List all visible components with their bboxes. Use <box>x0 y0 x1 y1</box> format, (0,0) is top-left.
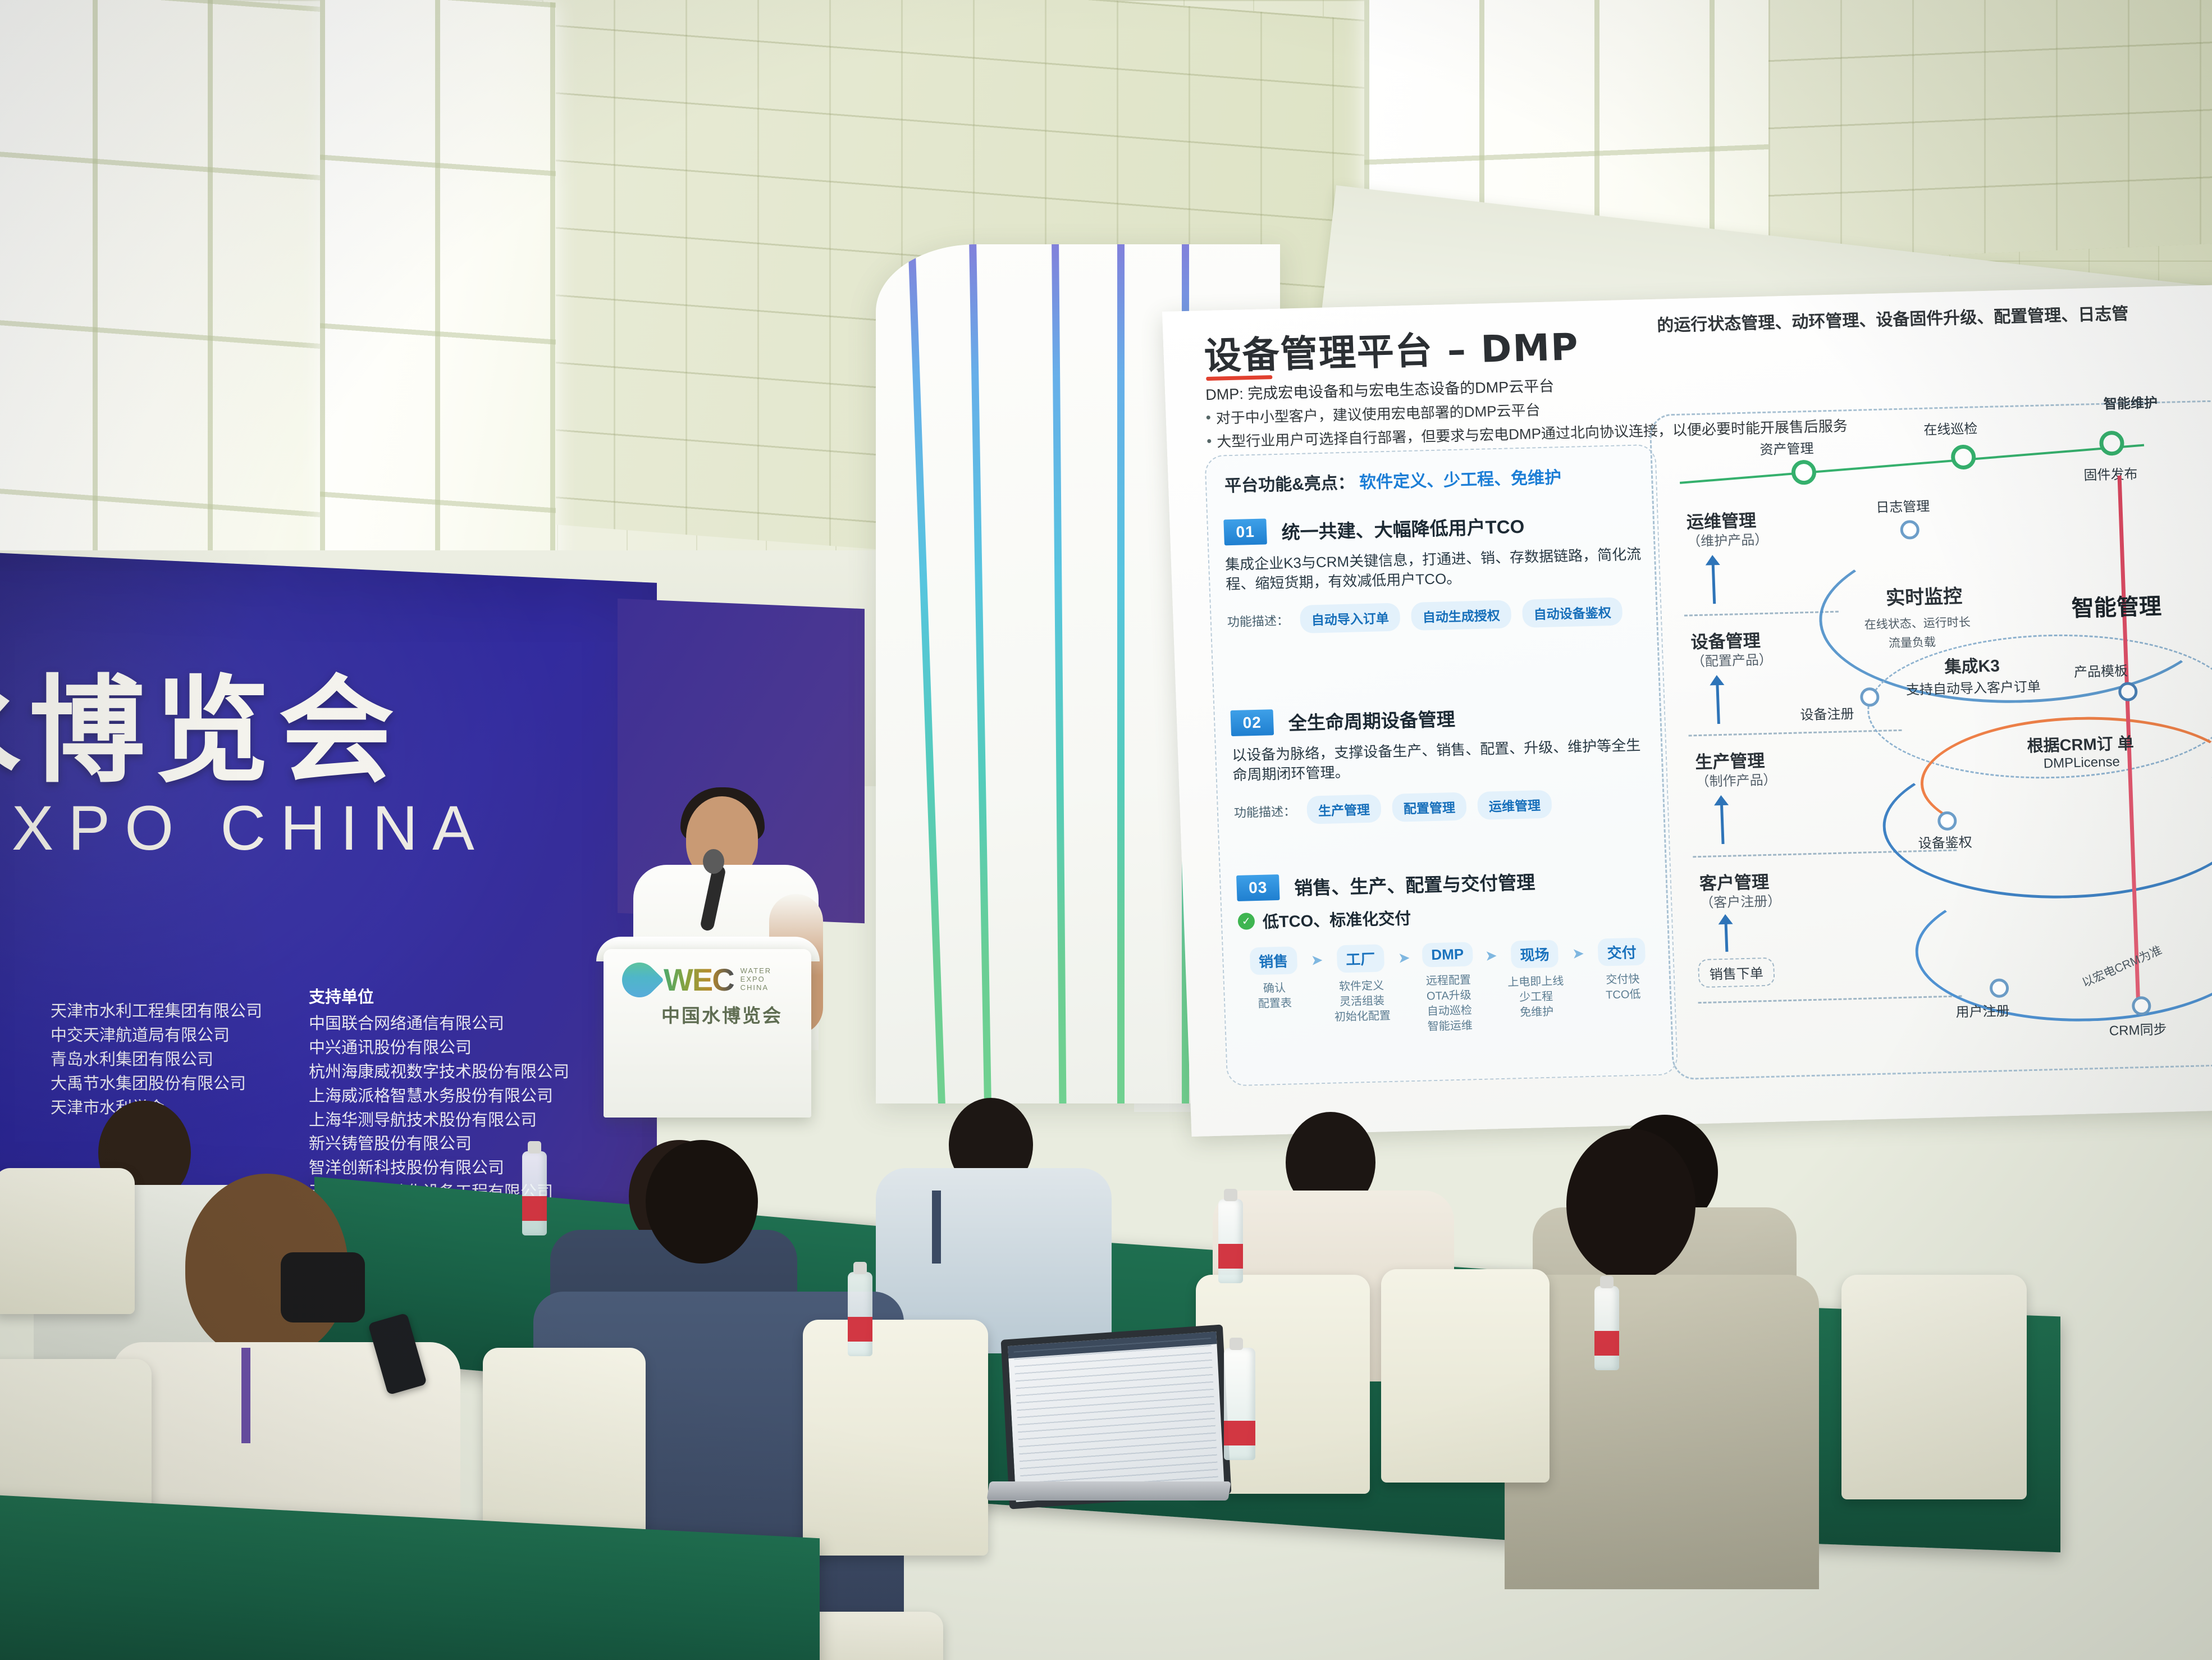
podium-logo-chinese: 中国水博览会 <box>661 1001 783 1028</box>
chair <box>803 1320 988 1556</box>
attendee-body <box>1505 1275 1819 1589</box>
lifecycle-diagram: 资产管理 在线巡检 固件发布 智能维护 运维管理 （维护产品） 设备管理 （配置… <box>1671 405 2212 1093</box>
chair <box>1381 1269 1550 1483</box>
feature-block-tagrow: 功能描述： 生产管理 配置管理 运维管理 <box>1233 787 1651 826</box>
supporter-item: 上海威派格智慧水务股份有限公司 <box>309 1084 569 1109</box>
feature-tag: 生产管理 <box>1306 794 1382 824</box>
organizer-item: 天津市水利工程集团有限公司 <box>51 1000 262 1024</box>
flow-arrow-icon: ➤ <box>1484 941 1497 965</box>
slide-title: 设备管理平台 – DMP <box>1203 317 1580 380</box>
flow-arrow-icon: ➤ <box>1397 943 1410 967</box>
water-drop-icon <box>615 955 664 1005</box>
feature-tag: 自动生成授权 <box>1411 600 1512 630</box>
slide-bullet-text: 对于中小型客户，建议使用宏电部署的DMP云平台 <box>1215 402 1541 427</box>
conference-photo-scene: 水博览会 EXPO CHINA 天津市水利工程集团有限公司 中交天津航道局有限公… <box>0 0 2212 1660</box>
stage-sub-production: （制作产品） <box>1695 769 1777 791</box>
wave-line <box>907 244 947 1103</box>
flow-step-chip: 现场 <box>1511 940 1559 968</box>
flow-step-chip: 销售 <box>1249 946 1297 975</box>
tag-row-label: 功能描述： <box>1233 801 1296 821</box>
feature-block-02: 02 全生命周期设备管理 以设备为脉络，支撑设备生产、销售、配置、升级、维护等全… <box>1230 699 1651 826</box>
expo-banner-backdrop: 水博览会 EXPO CHINA 天津市水利工程集团有限公司 中交天津航道局有限公… <box>0 551 657 1240</box>
attendee-head <box>646 1140 758 1264</box>
smart-management-title: 智能管理 <box>2071 588 2162 623</box>
monitor-sub-1: 在线状态、运行时长 <box>1864 613 1971 633</box>
feature-block-03: 03 销售、生产、配置与交付管理 ✓ 低TCO、标准化交付 销售 确认 配置表 … <box>1236 864 1658 1039</box>
flow-step: 工厂 软件定义 灵活组装 初始化配置 <box>1326 944 1397 1025</box>
supporter-heading: 支持单位 <box>309 986 569 1010</box>
feature-block-desc: 以设备为脉络，支撑设备生产、销售、配置、升级、维护等全生命周期闭环管理。 <box>1232 735 1649 785</box>
chip-sales-order-label: 销售下单 <box>1709 966 1763 982</box>
monitor-sub-2: 流量负载 <box>1888 633 1936 651</box>
feature-tag: 配置管理 <box>1392 792 1467 822</box>
bullet-dot-icon <box>1206 416 1210 419</box>
podium-logo-sub-line: EXPO <box>741 975 772 984</box>
water-bottle <box>1594 1286 1619 1370</box>
label-smart-maintenance: 智能维护 <box>2103 391 2158 412</box>
label-product-template: 产品模板 <box>2073 660 2128 681</box>
feature-tag: 自动设备鉴权 <box>1522 597 1623 627</box>
flow-step-sub: 远程配置 OTA升级 自动巡检 智能运维 <box>1414 973 1484 1035</box>
laptop-content-rows <box>1014 1338 1219 1496</box>
presentation-slide: 设备管理平台 – DMP 的运行状态管理、动环管理、设备固件升级、配置管理、日志… <box>1162 285 2212 1137</box>
window-bank-left-inner <box>320 0 556 609</box>
flow-step: DMP 远程配置 OTA升级 自动巡检 智能运维 <box>1413 942 1484 1035</box>
flow-arrow-icon: ➤ <box>1571 939 1584 963</box>
flow-arrow-icon: ➤ <box>1310 946 1323 969</box>
chip-sales-order: 销售下单 <box>1698 957 1775 988</box>
tag-row-label: 功能描述： <box>1227 610 1289 630</box>
label-online-inspection: 在线巡检 <box>1923 417 1978 438</box>
face-mask <box>281 1252 365 1322</box>
label-device-register: 设备注册 <box>1800 703 1854 723</box>
flow-step-sub: 上电即上线 少工程 免维护 <box>1501 974 1571 1021</box>
organizer-item: 中交天津航道局有限公司 <box>51 1024 262 1048</box>
organizer-item: 青岛水利集团有限公司 <box>51 1048 262 1072</box>
water-bottle <box>848 1272 872 1356</box>
supporter-item: 杭州海康威视数字技术股份有限公司 <box>309 1060 569 1084</box>
flow-step: 交付 交付快 TCO低 <box>1587 937 1657 1004</box>
feature-card: 平台功能&亮点： 软件定义、少工程、免维护 01 统一共建、大幅降低用户TCO … <box>1204 444 1678 1087</box>
crm-title: 根据CRM订 单 <box>2027 730 2135 756</box>
crm-sub: DMPLicense <box>2043 754 2120 772</box>
monitor-title: 实时监控 <box>1885 581 1963 610</box>
podium-logo-sub-line: CHINA <box>741 984 772 992</box>
stage-sub-customer: （客户注册） <box>1700 890 1781 911</box>
wave-line <box>969 244 993 1103</box>
water-bottle <box>1224 1348 1255 1460</box>
k3-sub: 支持自动导入客户订单 <box>1905 676 2041 699</box>
bottle-label <box>522 1196 547 1221</box>
banner-subtitle: EXPO CHINA <box>0 792 489 864</box>
stage-sub-device: （配置产品） <box>1691 649 1772 671</box>
chair <box>0 1168 135 1314</box>
bottle-label <box>1224 1421 1255 1445</box>
feature-block-title: 统一共建、大幅降低用户TCO <box>1281 512 1525 545</box>
label-crm-sync: CRM同步 <box>2109 1018 2167 1039</box>
microphone-head <box>703 849 724 874</box>
flow-step-sub: 交付快 TCO低 <box>1588 972 1657 1004</box>
feature-block-01: 01 统一共建、大幅降低用户TCO 集成企业K3与CRM关键信息，打通进、销、存… <box>1223 509 1644 635</box>
feature-card-heading-accent: 软件定义、少工程、免维护 <box>1359 468 1562 492</box>
feature-check-line: ✓ 低TCO、标准化交付 <box>1237 899 1655 933</box>
water-bottle <box>522 1151 547 1235</box>
supporter-item: 中兴通讯股份有限公司 <box>309 1036 569 1060</box>
feature-block-number: 03 <box>1236 874 1280 901</box>
k3-title: 集成K3 <box>1944 651 2000 677</box>
feature-block-number: 02 <box>1230 709 1274 736</box>
flow-step-chip: 工厂 <box>1336 944 1384 973</box>
label-asset-management: 资产管理 <box>1759 437 1814 458</box>
bottle-label <box>1218 1244 1243 1269</box>
flow-step-sub: 确认 配置表 <box>1240 981 1309 1013</box>
feature-card-heading: 平台功能&亮点： 软件定义、少工程、免维护 <box>1224 463 1561 496</box>
supporter-item: 上海华测导航技术股份有限公司 <box>309 1109 569 1133</box>
label-log-management: 日志管理 <box>1876 495 1930 516</box>
wave-line <box>1117 244 1125 1103</box>
label-device-auth: 设备鉴权 <box>1918 831 1972 852</box>
feature-tag: 运维管理 <box>1477 790 1552 819</box>
stage-sub-ops: （维护产品） <box>1687 528 1768 550</box>
label-firmware-release: 固件发布 <box>2083 463 2138 484</box>
podium-logo-text: WEC <box>664 961 734 998</box>
lanyard <box>932 1191 941 1264</box>
podium-logo-sub-line: WATER <box>741 967 772 975</box>
flow-step: 现场 上电即上线 少工程 免维护 <box>1500 940 1571 1021</box>
label-user-register: 用户注册 <box>1955 1000 2010 1020</box>
feature-block-desc: 集成企业K3与CRM关键信息，打通进、销、存数据链路，简化流程、缩短货期，有效减… <box>1225 545 1643 595</box>
bottle-label <box>1594 1331 1619 1356</box>
wall-panel-right <box>1768 0 2212 262</box>
slide-title-continuation: 的运行状态管理、动环管理、设备固件升级、配置管理、日志管 <box>1657 299 2129 336</box>
flow-step-chip: DMP <box>1422 942 1473 967</box>
podium-logo-sub: WATER EXPO CHINA <box>741 967 772 992</box>
attendee-head <box>1566 1129 1695 1280</box>
laptop-keyboard[interactable] <box>986 1481 1231 1501</box>
delivery-flow: 销售 确认 配置表 ➤ 工厂 软件定义 灵活组装 初始化配置 ➤ DMP 远程配… <box>1239 937 1659 1039</box>
podium-logo: WEC WATER EXPO CHINA <box>622 961 771 998</box>
feature-block-number: 01 <box>1223 518 1267 545</box>
flow-step-sub: 软件定义 灵活组装 初始化配置 <box>1327 978 1397 1025</box>
feature-tag: 自动导入订单 <box>1300 603 1401 633</box>
feature-block-title: 销售、生产、配置与交付管理 <box>1294 867 1535 900</box>
feature-card-heading-label: 平台功能&亮点： <box>1224 473 1355 495</box>
water-bottle <box>1218 1199 1243 1283</box>
feature-block-title: 全生命周期设备管理 <box>1288 704 1456 735</box>
check-circle-icon: ✓ <box>1237 913 1255 930</box>
flow-step-chip: 交付 <box>1598 938 1646 966</box>
wave-line <box>1052 244 1067 1103</box>
window-bank-left <box>0 0 326 614</box>
lanyard <box>241 1348 250 1443</box>
chair <box>1841 1275 2027 1499</box>
feature-block-tagrow: 功能描述： 自动导入订单 自动生成授权 自动设备鉴权 <box>1227 596 1644 635</box>
feature-check-text: 低TCO、标准化交付 <box>1262 905 1411 933</box>
bottle-label <box>848 1317 872 1342</box>
organizer-item: 大禹节水集团股份有限公司 <box>51 1072 262 1096</box>
flow-step: 销售 确认 配置表 <box>1239 946 1309 1013</box>
supporter-item: 中国联合网络通信有限公司 <box>309 1012 569 1036</box>
banner-title: 水博览会 <box>0 637 403 805</box>
bullet-dot-icon <box>1207 439 1211 443</box>
